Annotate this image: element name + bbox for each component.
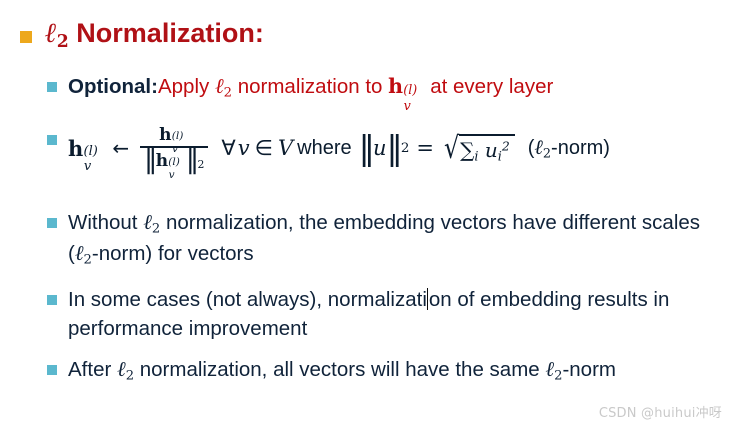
ell2-norm-annotation: (ℓ2-norm) [528,135,610,162]
slide-canvas: ℓ2 Normalization: Optional:Apply ℓ2 norm… [0,0,733,429]
teal-square-bullet-icon [47,135,57,145]
numerator-superscript: (l) [172,130,184,142]
bullet-after-normalization: After ℓ2 normalization, all vectors will… [47,355,727,386]
without-ell-symbol: ℓ [143,210,152,234]
equation-lhs-h-vector: h(l)v [68,136,105,161]
element-of-symbol: ∈ [255,136,273,160]
fraction-denominator: ‖h(l)v‖2 [140,148,208,171]
csdn-watermark: CSDN @huihui冲呀 [599,402,722,421]
after-seg2: normalization, all vectors will have the… [134,358,545,381]
annotation-ell-symbol: ℓ [534,135,543,159]
gold-square-bullet-icon [20,31,32,43]
teal-square-bullet-icon [47,218,57,228]
norm-order-subscript: 2 [198,158,205,171]
u-norm-left-bar: ‖ [359,135,373,161]
without-ell2-symbol: ℓ [75,241,84,265]
insome-seg1: In some cases (not always), normalizati [68,288,427,311]
without-seg3: -norm) for vectors [92,242,254,265]
bullet-in-some-cases-text[interactable]: In some cases (not always), normalizatio… [68,285,727,343]
norm-right-bar: ‖ [186,150,198,171]
teal-square-bullet-icon [47,365,57,375]
norm-left-bar: ‖ [144,150,156,171]
after-ell-subscript: 2 [126,369,134,384]
set-V: V [278,136,293,160]
without-seg1: Without [68,211,143,234]
teal-square-bullet-icon [47,295,57,305]
equals-symbol: = [416,136,434,160]
u-norm-right-bar: ‖ [386,135,400,161]
after-seg1: After [68,358,117,381]
slide-title: ℓ2 Normalization: [20,18,264,53]
radicand: ∑i ui2 [459,134,515,165]
forall-symbol: ∀ [221,136,235,160]
after-seg3: -norm [562,358,616,381]
optional-label: Optional: [68,75,158,98]
without-ell2-subscript: 2 [84,253,92,268]
title-label: Normalization: [76,18,264,48]
left-arrow-icon: ← [112,136,129,160]
bullet-without-text: Without ℓ2 normalization, the embedding … [68,208,727,271]
lhs-superscript: (l) [84,144,98,159]
after-ell2-symbol: ℓ [545,357,554,381]
optional-ell-symbol: ℓ [215,74,224,98]
optional-apply-text: Apply [158,75,215,98]
title-ell-subscript: 2 [57,32,69,52]
fraction-numerator: h(l)v [155,125,193,146]
without-ell-subscript: 2 [152,222,160,237]
u-term-exponent: 2 [502,138,510,153]
annotation-ell-subscript: 2 [543,146,551,161]
denominator-subscript: v [169,169,175,181]
bullet-after-text: After ℓ2 normalization, all vectors will… [68,355,616,386]
annotation-norm-text: -norm) [551,137,610,159]
square-root-expression: √ ∑i ui2 [444,132,515,165]
optional-h-vector: h(l)v [388,72,424,101]
optional-ell-subscript: 2 [224,86,232,101]
u-term: u [485,138,498,162]
title-ell-symbol: ℓ [45,17,57,49]
u-norm-subscript: 2 [401,141,410,156]
summation-index: i [474,149,478,164]
variable-v: v [238,136,250,160]
bullet-in-some-cases: In some cases (not always), normalizatio… [47,285,727,343]
bullet-optional-text: Optional:Apply ℓ2 normalization to h(l)v… [68,72,553,103]
optional-mid-text: normalization to [232,75,388,98]
bullet-without-normalization: Without ℓ2 normalization, the embedding … [47,208,727,271]
denominator-superscript: (l) [168,156,180,168]
radical-sign-icon: √ [444,134,459,167]
where-label: where [297,137,351,160]
u-variable: u [373,136,387,160]
lhs-subscript: v [84,159,91,174]
bullet-formula: h(l)v ← h(l)v ‖h(l)v‖2 ∀v∈V where ‖u‖2 =… [47,125,610,171]
bullet-optional: Optional:Apply ℓ2 normalization to h(l)v… [47,72,553,103]
optional-h-subscript: v [404,97,411,115]
page-title: ℓ2 Normalization: [45,18,264,53]
optional-after-text: at every layer [425,75,554,98]
teal-square-bullet-icon [47,82,57,92]
after-ell-symbol: ℓ [117,357,126,381]
summation-symbol: ∑ [460,138,474,162]
normalization-equation: h(l)v ← h(l)v ‖h(l)v‖2 ∀v∈V where ‖u‖2 =… [68,125,610,171]
equation-fraction: h(l)v ‖h(l)v‖2 [140,125,208,171]
